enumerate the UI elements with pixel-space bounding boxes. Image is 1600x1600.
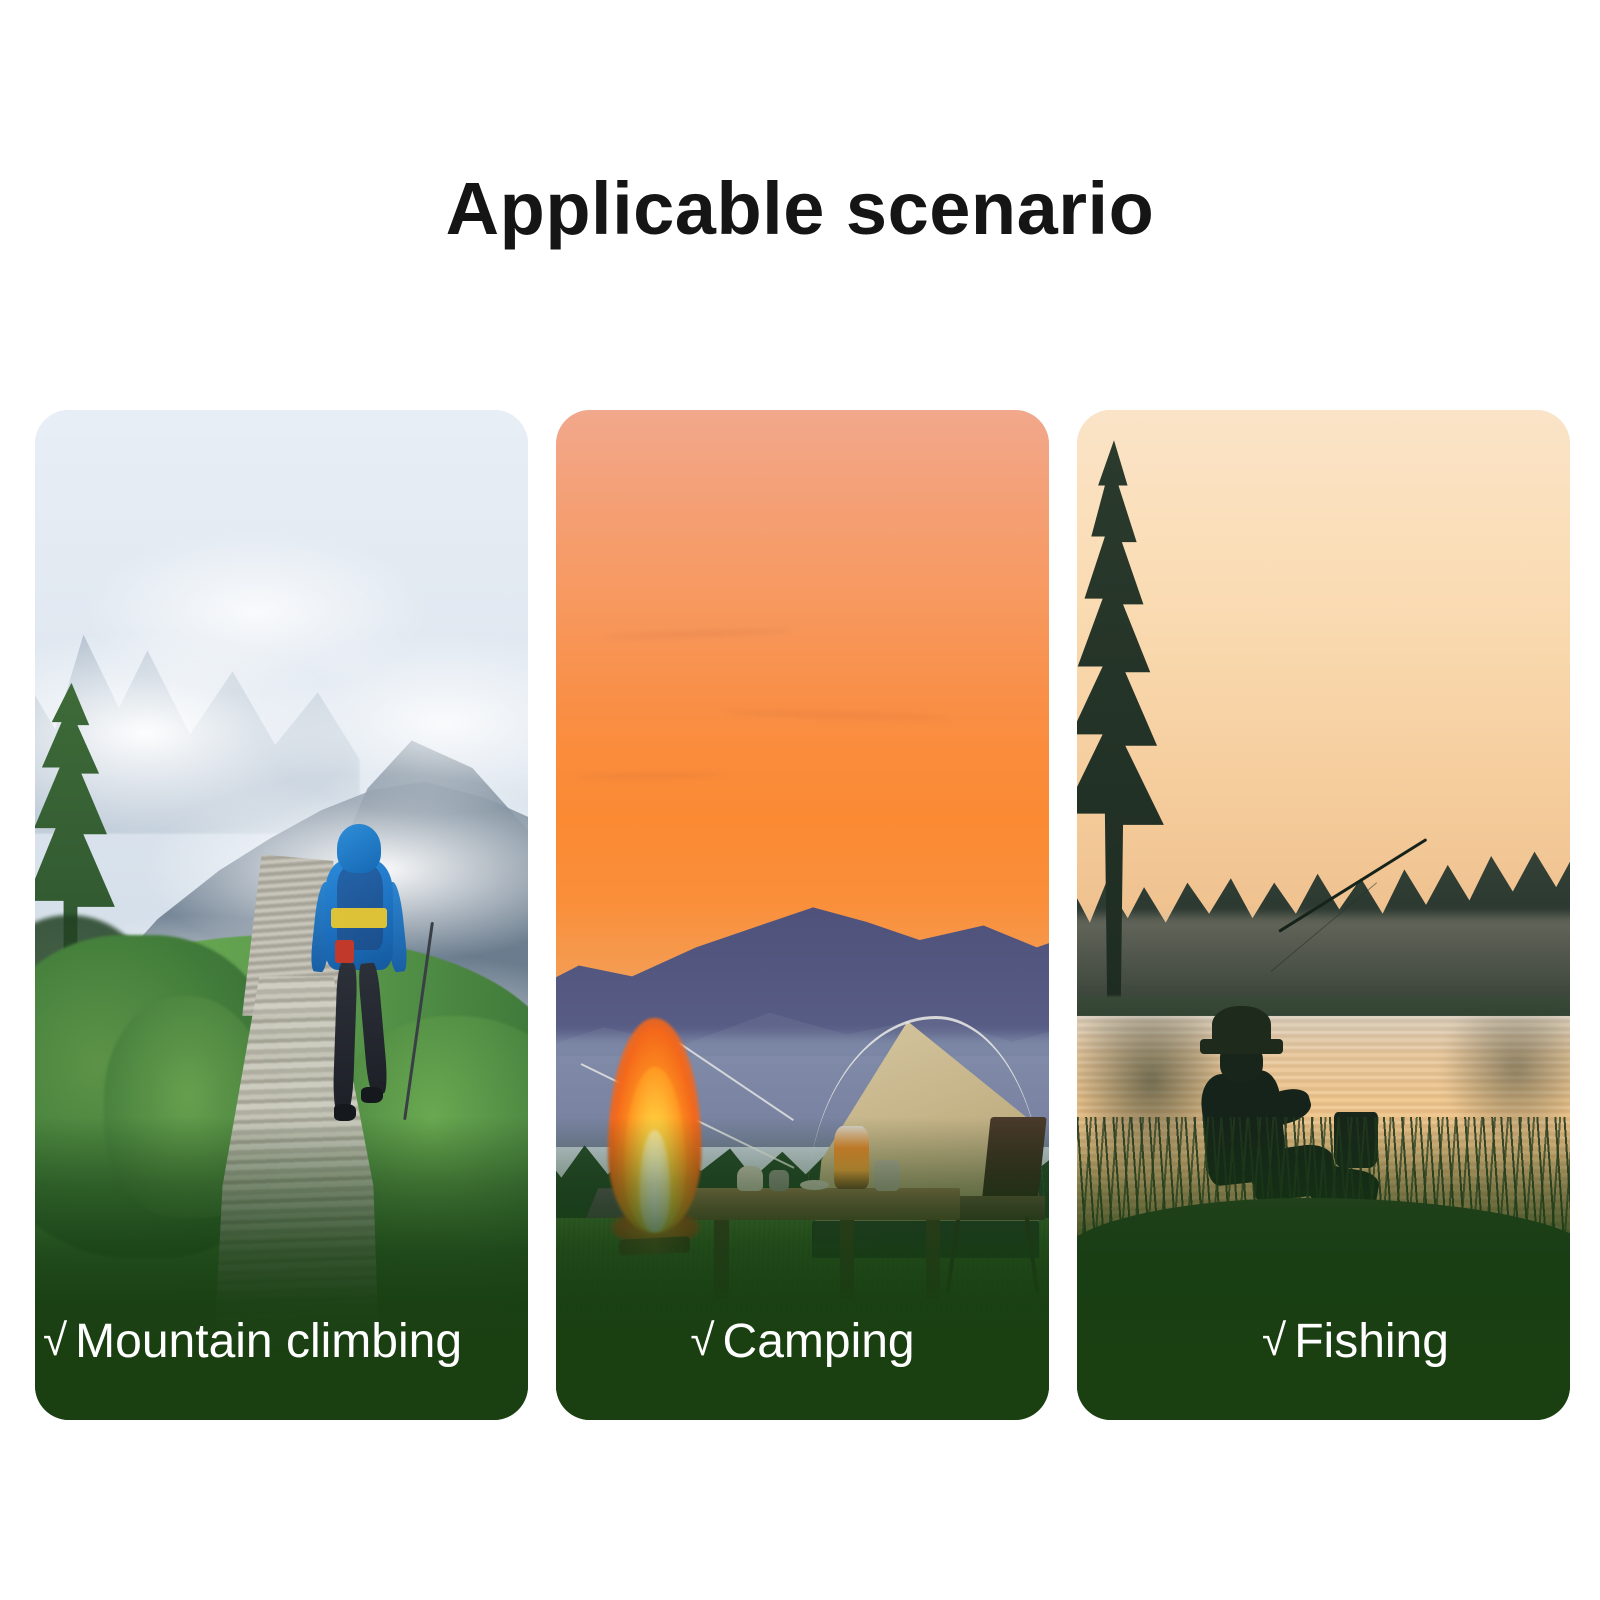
campfire bbox=[605, 1036, 704, 1258]
chair-back bbox=[981, 1117, 1047, 1206]
chair-leg bbox=[1024, 1217, 1039, 1292]
scenario-caption-mountain-climbing: √Mountain climbing bbox=[35, 1316, 528, 1368]
hiker-leg bbox=[333, 963, 358, 1112]
hiker-hood bbox=[337, 824, 380, 872]
scenario-card-mountain-climbing[interactable]: √Mountain climbing bbox=[35, 410, 528, 1420]
table-top bbox=[674, 1188, 960, 1219]
camp-plate bbox=[800, 1180, 829, 1190]
check-icon: √ bbox=[690, 1316, 714, 1365]
table-leg bbox=[714, 1220, 728, 1299]
dusk-sky bbox=[1077, 410, 1570, 935]
fishing-photo bbox=[1077, 410, 1570, 1420]
mountain-climbing-photo bbox=[35, 410, 528, 1420]
hiker-figure bbox=[306, 824, 410, 1147]
camp-cup bbox=[737, 1166, 763, 1191]
check-icon: √ bbox=[43, 1316, 67, 1365]
camp-lantern bbox=[834, 1126, 868, 1188]
flame-core bbox=[639, 1130, 671, 1232]
scenario-card-fishing[interactable]: √Fishing bbox=[1077, 410, 1570, 1420]
camp-table bbox=[674, 1157, 960, 1298]
backpack-yellow-strap bbox=[331, 908, 387, 927]
table-leg bbox=[840, 1220, 854, 1299]
backpack-red-strap bbox=[335, 940, 354, 963]
hiker-legs bbox=[335, 963, 383, 1112]
check-icon: √ bbox=[1262, 1316, 1286, 1365]
camp-jug bbox=[874, 1160, 900, 1191]
scenario-caption-camping: √Camping bbox=[556, 1316, 1049, 1368]
scenario-caption-fishing: √Fishing bbox=[1077, 1316, 1570, 1368]
hiker-boot bbox=[334, 1104, 356, 1120]
scenario-label: Fishing bbox=[1294, 1315, 1449, 1368]
sunset-sky bbox=[556, 410, 1049, 996]
table-leg bbox=[926, 1220, 940, 1299]
hiker-boot bbox=[361, 1087, 383, 1103]
hiker-leg bbox=[357, 962, 388, 1094]
scenario-label: Camping bbox=[723, 1315, 915, 1368]
scenario-card-list: √Mountain climbing bbox=[35, 410, 1572, 1420]
scenario-label: Mountain climbing bbox=[75, 1315, 462, 1368]
hat-brim bbox=[1200, 1039, 1283, 1054]
firewood-logs bbox=[619, 1237, 691, 1256]
scenario-card-camping[interactable]: √Camping bbox=[556, 410, 1049, 1420]
page-title: Applicable scenario bbox=[0, 172, 1600, 246]
camp-cup bbox=[769, 1170, 789, 1191]
grassy-bank bbox=[1077, 1198, 1570, 1420]
camping-photo bbox=[556, 410, 1049, 1420]
